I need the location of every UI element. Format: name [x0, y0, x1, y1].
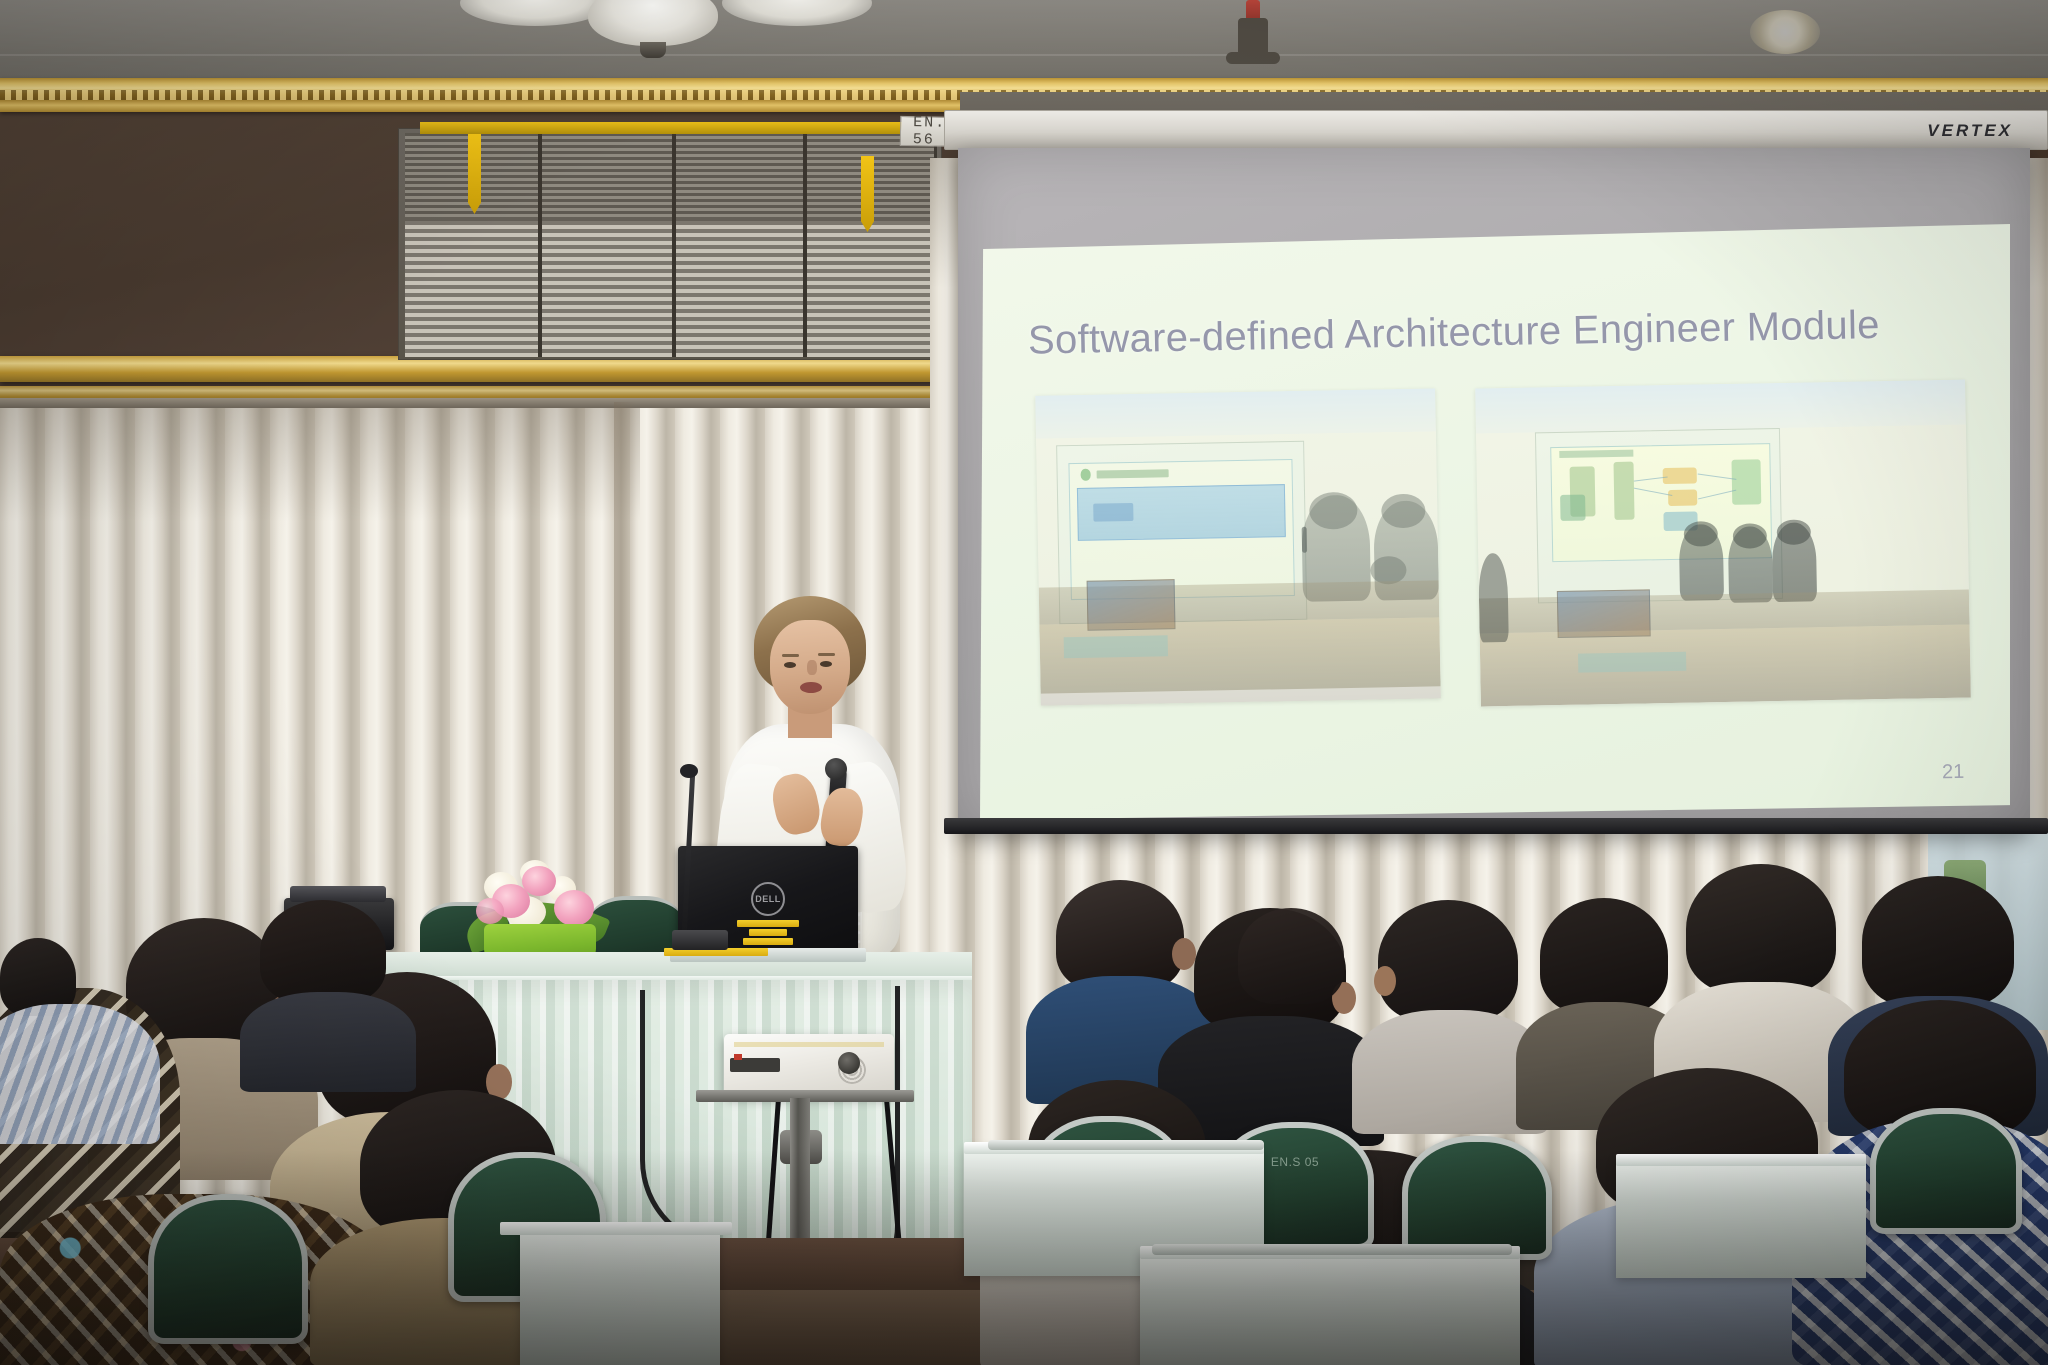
audience-table-2 — [1140, 1250, 1520, 1365]
chair-code-label: EN.S 05 — [1271, 1155, 1319, 1169]
cable-1 — [640, 990, 740, 1250]
curtain-seam — [614, 402, 636, 962]
recessed-downlight-2 — [1750, 10, 1820, 54]
audience-member-3 — [1368, 900, 1528, 1130]
chair-rail-2 — [1152, 1244, 1512, 1255]
audience-member-12 — [0, 938, 150, 1138]
vertex-brand-label: VERTEX — [1927, 121, 2013, 141]
slide-page-number: 21 — [1942, 761, 1965, 784]
inner-slide-logo — [1081, 469, 1092, 480]
projector-lens — [838, 1052, 860, 1074]
rose-4 — [476, 898, 504, 924]
chair-rail-1 — [988, 1140, 1264, 1150]
audience-table-3 — [1616, 1158, 1866, 1278]
banquet-chair-3 — [1402, 1136, 1552, 1260]
laptop-sticker-3 — [743, 938, 793, 945]
screen-case: VERTEX — [944, 110, 2048, 150]
slide-title: Software-defined Architecture Engineer M… — [1028, 301, 1969, 363]
projected-slide: Software-defined Architecture Engineer M… — [980, 224, 2010, 820]
chandelier-stem — [640, 42, 666, 58]
microphone-stand-base — [672, 930, 728, 950]
audience-table-3-edge — [1616, 1154, 1866, 1166]
laptop-sticker-1 — [737, 920, 799, 927]
gooseneck-microphone-capsule — [680, 764, 698, 778]
audience-member-7 — [1232, 902, 1352, 1082]
inner-slide-heading — [1097, 469, 1169, 478]
banquet-chair-5 — [148, 1194, 308, 1344]
yellow-tag-right — [861, 156, 874, 232]
audience-table-4 — [520, 1226, 720, 1365]
dell-logo: DELL — [751, 882, 785, 916]
microphone-head — [825, 758, 847, 780]
slide-photo-right — [1475, 380, 1971, 707]
screen-surface: Software-defined Architecture Engineer M… — [958, 148, 2030, 834]
rose-2 — [522, 866, 556, 896]
rose-3 — [554, 890, 594, 926]
presenter-mouth — [800, 682, 822, 693]
projection-screen: VERTEX Software-defined Architecture Eng… — [944, 110, 2048, 820]
yellow-tag-left — [468, 134, 481, 214]
screen-weight-bar — [944, 818, 2048, 834]
sprinkler-arm — [1226, 52, 1280, 64]
curtain-left-shadow — [0, 402, 640, 522]
projector — [724, 1034, 894, 1096]
audience-table-4-edge — [500, 1222, 732, 1235]
audience-member-11 — [250, 900, 400, 1070]
curtain-rod-left — [0, 398, 960, 408]
laptop-sticker-2 — [749, 929, 787, 936]
presentation-photo-scene: EN.S 06 140 2 1-1 1 56 VERTEX Software-d… — [0, 0, 2048, 1365]
presenter-nose — [807, 660, 817, 675]
yellow-duct-strip — [420, 122, 940, 134]
banquet-chair-4 — [1870, 1108, 2022, 1234]
slide-photo-left — [1035, 388, 1441, 705]
